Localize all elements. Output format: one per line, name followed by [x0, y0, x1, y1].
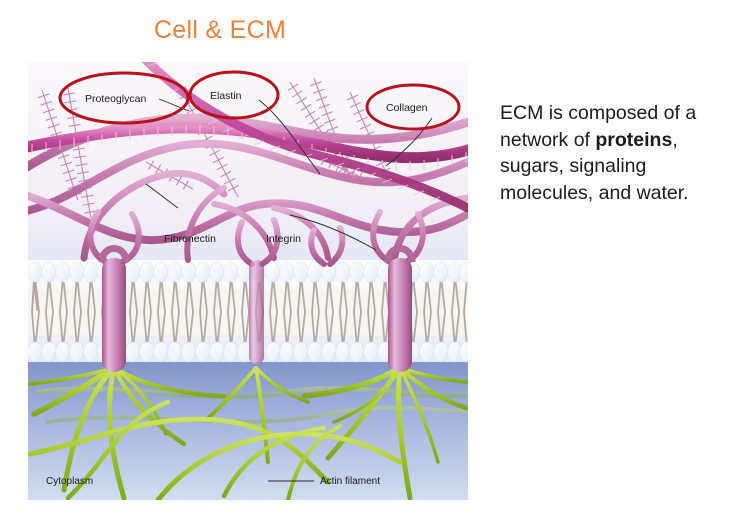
label-actin-filament: Actin filament	[320, 476, 380, 487]
description-emphasis-proteins: proteins	[595, 129, 672, 151]
description-line-3: sugars, signaling	[500, 155, 646, 177]
description-line-1: ECM is composed of a	[500, 102, 696, 124]
integrin-left	[102, 249, 126, 373]
ecm-cell-diagram-image: Proteoglycan Elastin Collagen Fibronecti…	[28, 62, 468, 500]
label-fibronectin: Fibronectin	[164, 233, 216, 245]
label-elastin: Elastin	[210, 90, 242, 102]
label-cytoplasm: Cytoplasm	[46, 476, 93, 487]
description-line-2-suffix: ,	[672, 129, 677, 151]
description-line-2-prefix: network of	[500, 129, 595, 151]
integrin-right	[388, 249, 412, 373]
label-collagen: Collagen	[386, 102, 428, 114]
label-proteoglycan: Proteoglycan	[85, 93, 146, 105]
label-integrin: Integrin	[266, 233, 301, 245]
page-title: Cell & ECM	[0, 16, 440, 45]
description-line-4: molecules, and water.	[500, 182, 689, 204]
description-text: ECM is composed of a network of proteins…	[500, 100, 732, 206]
integrin-middle	[249, 260, 264, 364]
